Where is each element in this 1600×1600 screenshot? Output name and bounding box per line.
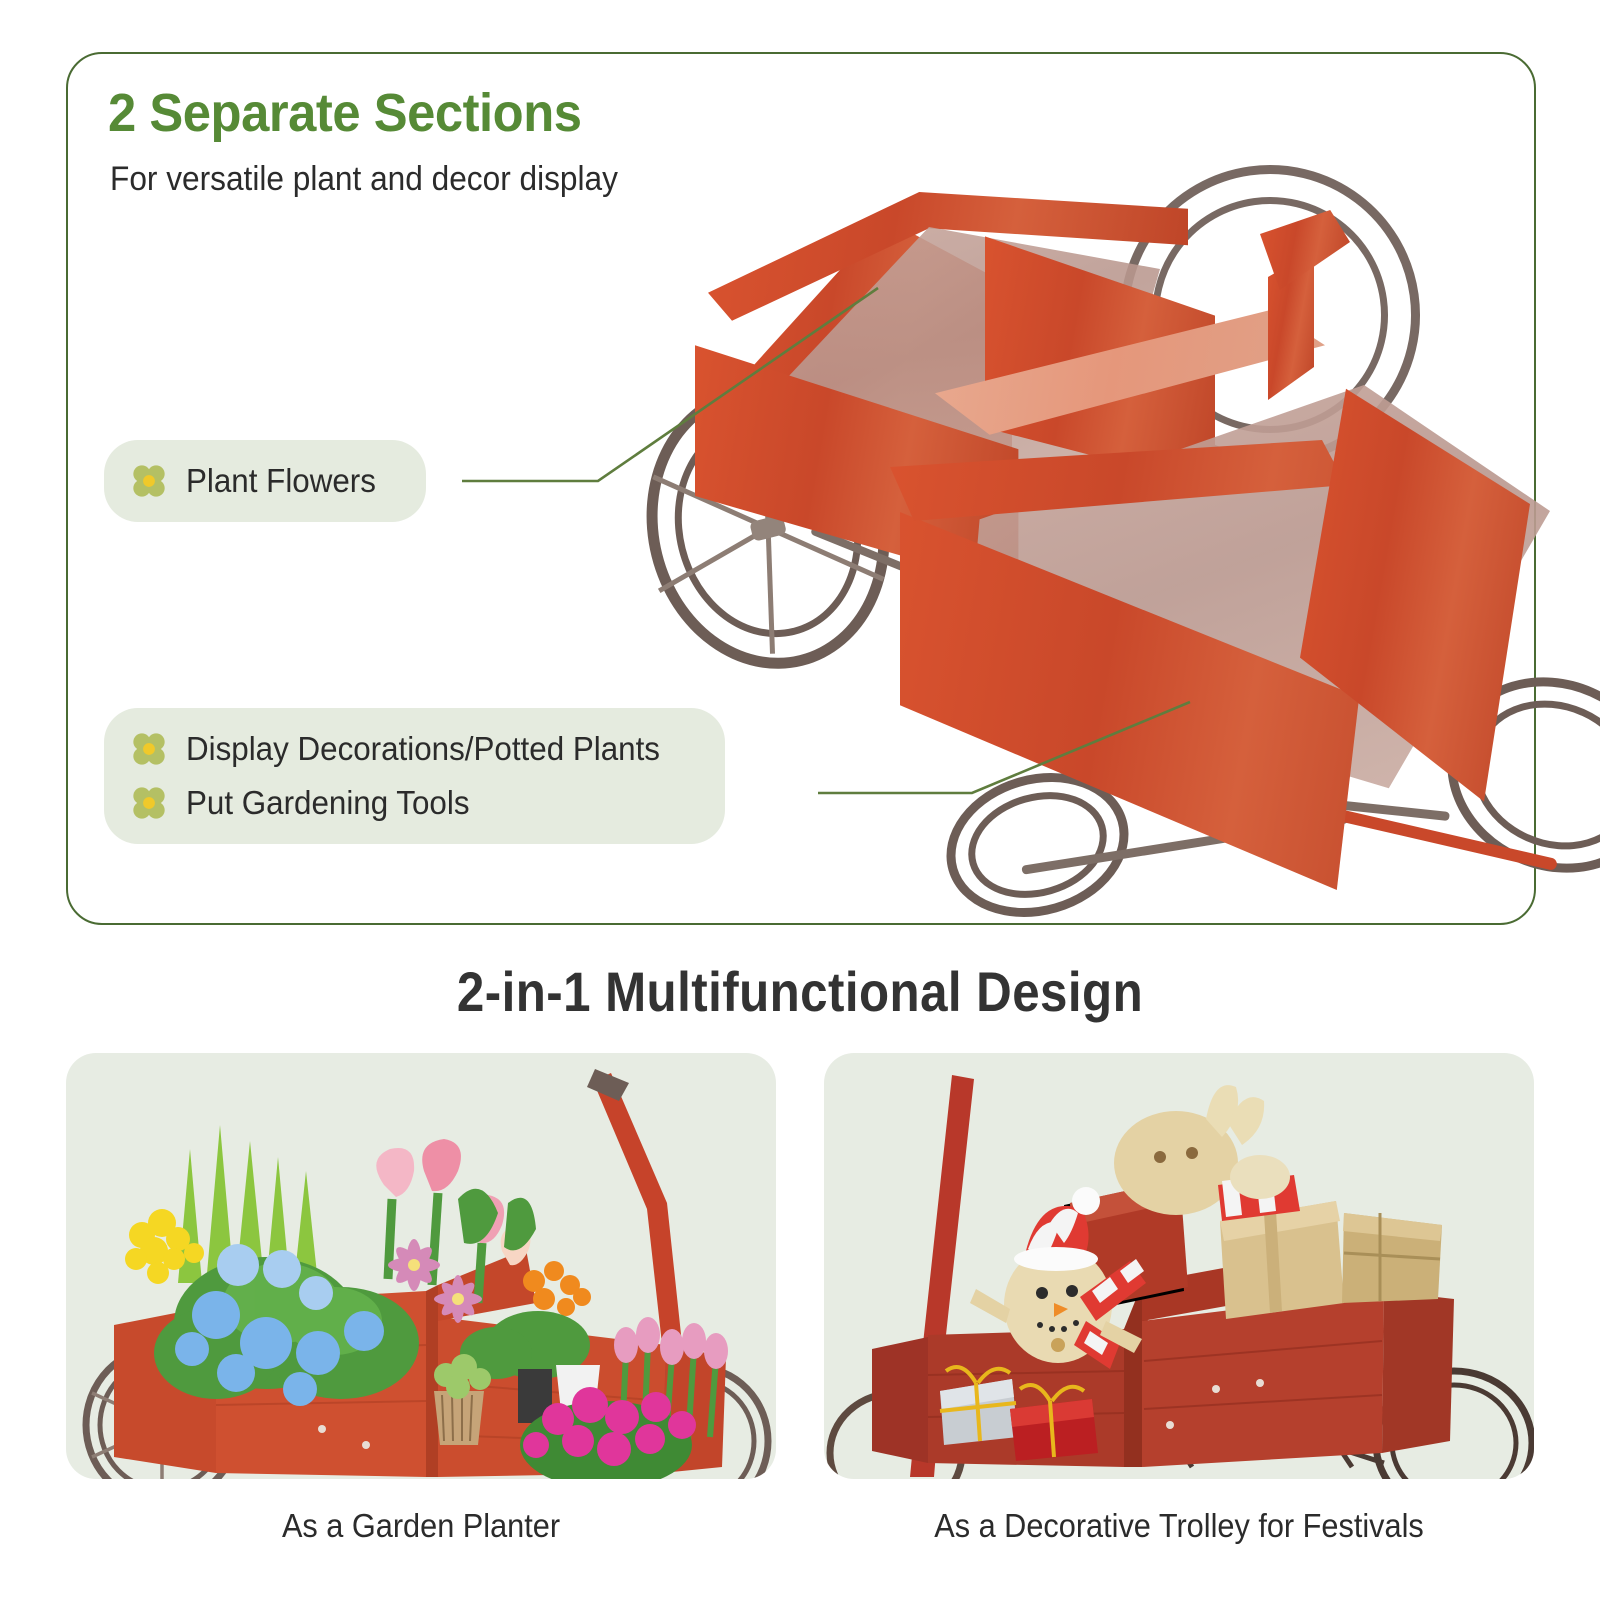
callout-plant-flowers[interactable]: Plant Flowers <box>104 440 426 522</box>
callout-display-and-tools[interactable]: Display Decorations/Potted Plants Put Ga… <box>104 708 725 844</box>
product-image-wagon <box>600 40 1600 940</box>
flower-icon <box>130 730 168 768</box>
section-heading-multifunctional: 2-in-1 Multifunctional Design <box>96 959 1504 1024</box>
caption-garden-planter: As a Garden Planter <box>91 1507 751 1545</box>
panel-title: 2 Separate Sections <box>108 82 582 144</box>
callout-label: Display Decorations/Potted Plants <box>186 730 660 768</box>
flower-icon <box>130 784 168 822</box>
wheel-inner-ring <box>956 776 1119 913</box>
flower-icon <box>130 462 168 500</box>
caption-festival-trolley: As a Decorative Trolley for Festivals <box>849 1507 1509 1545</box>
callout-row: Display Decorations/Potted Plants <box>130 722 685 776</box>
callout-row: Plant Flowers <box>130 454 386 508</box>
infographic-page: 2 Separate Sections For versatile plant … <box>0 0 1600 1600</box>
callout-label: Put Gardening Tools <box>186 784 470 822</box>
usage-card-garden-planter <box>66 1053 776 1479</box>
callout-row: Put Gardening Tools <box>130 776 685 830</box>
garden-planter-scene <box>66 1053 776 1479</box>
callout-label: Plant Flowers <box>186 462 376 500</box>
festival-trolley-scene <box>824 1053 1534 1479</box>
panel-subtitle: For versatile plant and decor display <box>110 160 618 199</box>
usage-card-festival-trolley <box>824 1053 1534 1479</box>
